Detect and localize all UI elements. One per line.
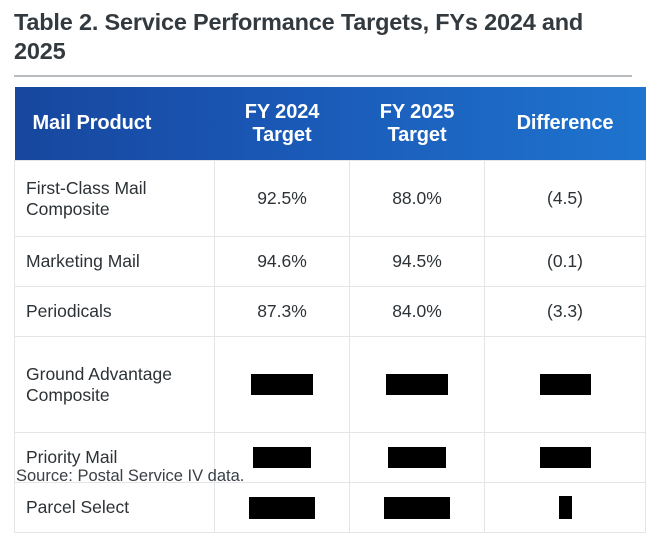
cell-difference xyxy=(485,483,646,533)
cell-fy-2024-target xyxy=(215,483,350,533)
redaction-bar xyxy=(253,447,311,468)
column-header-fy-2025-line1: FY 2025 xyxy=(380,101,455,123)
table-row: Ground Advantage Composite xyxy=(15,337,646,433)
cell-fy-2025-target: 94.5% xyxy=(350,237,485,287)
cell-fy-2025-target: 84.0% xyxy=(350,287,485,337)
cell-fy-2024-target: 87.3% xyxy=(215,287,350,337)
cell-fy-2025-target xyxy=(350,433,485,483)
column-header-fy-2024-line2: Target xyxy=(252,124,311,146)
cell-mail-product: Ground Advantage Composite xyxy=(15,337,215,433)
column-header-mail-product: Mail Product xyxy=(15,87,215,161)
column-header-difference: Difference xyxy=(485,87,646,161)
cell-fy-2024-target: 92.5% xyxy=(215,161,350,237)
cell-mail-product: Periodicals xyxy=(15,287,215,337)
title-divider xyxy=(14,75,632,77)
table-row: Periodicals 87.3% 84.0% (3.3) xyxy=(15,287,646,337)
table-row: First-Class Mail Composite 92.5% 88.0% (… xyxy=(15,161,646,237)
page-title: Table 2. Service Performance Targets, FY… xyxy=(14,0,634,66)
redaction-bar xyxy=(251,374,313,395)
table-header-row: Mail Product FY 2024 Target FY 2025 Targ… xyxy=(15,87,646,161)
cell-difference xyxy=(485,337,646,433)
cell-mail-product: Marketing Mail xyxy=(15,237,215,287)
redaction-bar xyxy=(559,496,572,519)
table-row: Parcel Select xyxy=(15,483,646,533)
source-note: Source: Postal Service IV data. xyxy=(16,466,244,486)
table-row: Marketing Mail 94.6% 94.5% (0.1) xyxy=(15,237,646,287)
column-header-fy-2024-target: FY 2024 Target xyxy=(215,87,350,161)
table-header: Mail Product FY 2024 Target FY 2025 Targ… xyxy=(15,87,646,161)
redaction-bar xyxy=(386,374,448,395)
cell-mail-product: First-Class Mail Composite xyxy=(15,161,215,237)
cell-difference: (4.5) xyxy=(485,161,646,237)
cell-fy-2024-target: 94.6% xyxy=(215,237,350,287)
cell-fy-2025-target xyxy=(350,337,485,433)
column-header-fy-2024-line1: FY 2024 xyxy=(245,101,320,123)
redaction-bar xyxy=(540,447,591,468)
cell-difference: (3.3) xyxy=(485,287,646,337)
column-header-fy-2025-target: FY 2025 Target xyxy=(350,87,485,161)
cell-fy-2024-target xyxy=(215,337,350,433)
redaction-bar xyxy=(388,447,446,468)
cell-difference xyxy=(485,433,646,483)
cell-difference: (0.1) xyxy=(485,237,646,287)
cell-mail-product: Parcel Select xyxy=(15,483,215,533)
redaction-bar xyxy=(540,374,591,395)
table-figure: Table 2. Service Performance Targets, FY… xyxy=(0,0,660,500)
cell-fy-2025-target: 88.0% xyxy=(350,161,485,237)
column-header-fy-2025-line2: Target xyxy=(387,124,446,146)
cell-fy-2025-target xyxy=(350,483,485,533)
